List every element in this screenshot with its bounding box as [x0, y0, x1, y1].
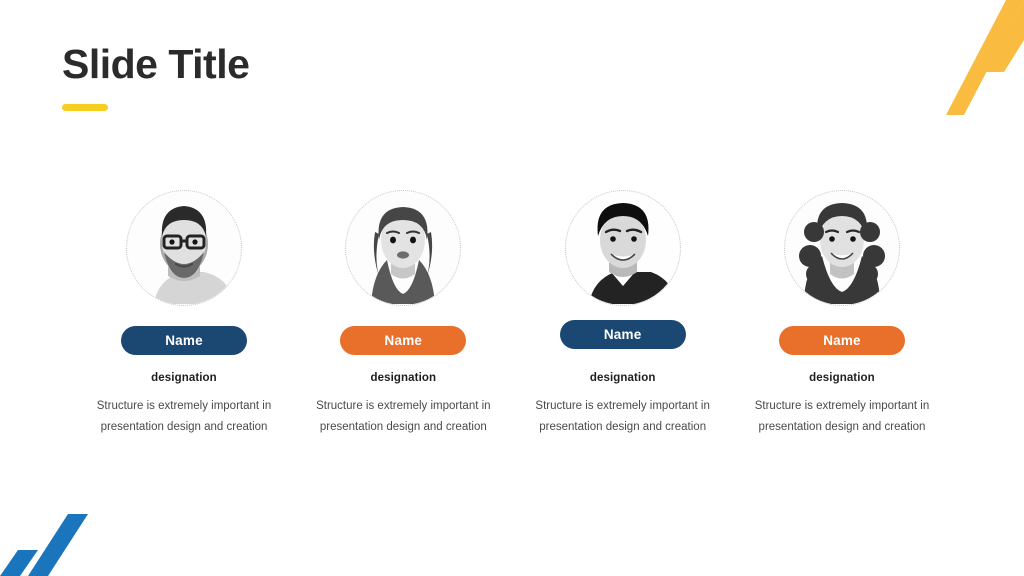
team-member-card: Name designation Structure is extremely …: [742, 190, 942, 439]
team-member-card: Name designation Structure is extremely …: [84, 190, 284, 439]
member-designation: designation: [590, 372, 656, 384]
member-designation: designation: [371, 372, 437, 384]
member-name-button[interactable]: Name: [121, 326, 247, 355]
bottom-left-slash-decoration: [0, 506, 120, 576]
team-member-row: Name designation Structure is extremely …: [84, 190, 942, 439]
avatar-woman-curly-hair-icon: [786, 192, 898, 304]
top-right-slash-decoration: [894, 0, 1024, 115]
title-accent-rule: [62, 104, 108, 111]
slide-canvas: Slide Title: [0, 0, 1024, 576]
avatar: [126, 190, 242, 306]
member-description: Structure is extremely important in pres…: [89, 396, 279, 439]
team-member-card: Name designation Structure is extremely …: [303, 190, 503, 439]
page-title: Slide Title: [62, 44, 249, 85]
avatar-man-glasses-beard-icon: [128, 192, 240, 304]
member-name-button[interactable]: Name: [779, 326, 905, 355]
team-member-card: Name designation Structure is extremely …: [523, 190, 723, 439]
title-block: Slide Title: [62, 44, 249, 111]
avatar: [565, 190, 681, 306]
member-designation: designation: [809, 372, 875, 384]
avatar: [784, 190, 900, 306]
avatar-woman-long-hair-icon: [347, 192, 459, 304]
member-name-button[interactable]: Name: [560, 320, 686, 349]
member-description: Structure is extremely important in pres…: [528, 396, 718, 439]
avatar-man-smiling-suit-icon: [567, 192, 679, 304]
member-description: Structure is extremely important in pres…: [308, 396, 498, 439]
member-description: Structure is extremely important in pres…: [747, 396, 937, 439]
member-name-button[interactable]: Name: [340, 326, 466, 355]
avatar: [345, 190, 461, 306]
member-designation: designation: [151, 372, 217, 384]
